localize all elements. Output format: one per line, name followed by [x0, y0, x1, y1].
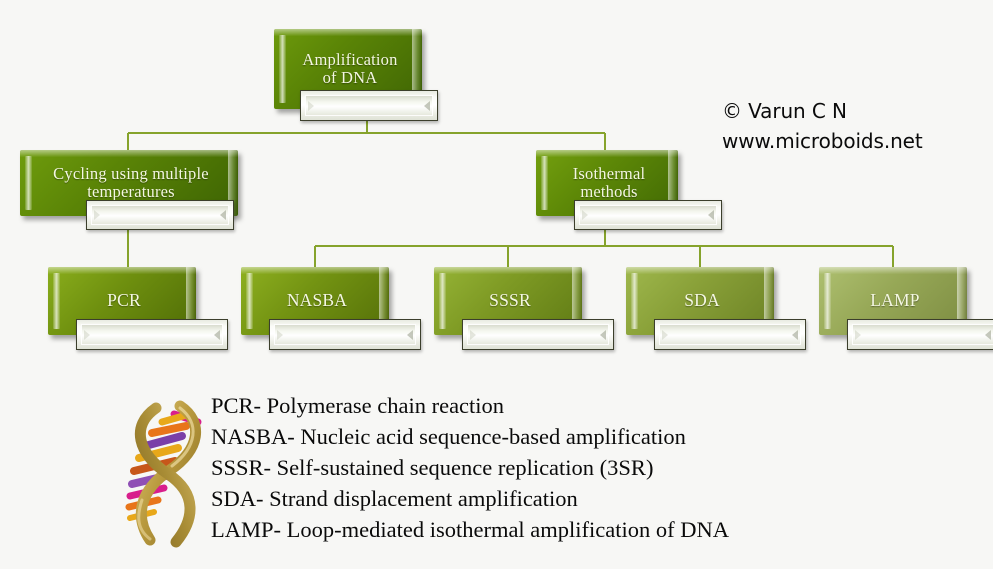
- node-label: LAMP: [870, 291, 919, 311]
- node-isothermal-methods[interactable]: Isothermal methods: [536, 150, 678, 216]
- node-nasba[interactable]: NASBA: [241, 267, 389, 335]
- node-label: Isothermal methods: [556, 165, 662, 202]
- node-label: PCR: [107, 291, 141, 311]
- node-label: Amplification of DNA: [294, 51, 406, 88]
- website-line: www.microboids.net: [722, 126, 923, 156]
- attribution: © Varun C N www.microboids.net: [722, 96, 923, 157]
- dna-double-helix-icon: [112, 392, 216, 552]
- node-plate: [654, 319, 806, 350]
- node-label: SDA: [684, 291, 720, 311]
- diagram-canvas: Amplification of DNA Cycling using multi…: [0, 0, 993, 569]
- node-label: SSSR: [489, 291, 531, 311]
- node-plate: [847, 319, 993, 350]
- node-amplification-of-dna[interactable]: Amplification of DNA: [274, 29, 422, 109]
- node-plate: [76, 319, 228, 350]
- node-label: NASBA: [287, 291, 347, 311]
- node-sda[interactable]: SDA: [626, 267, 774, 335]
- node-plate: [300, 90, 438, 121]
- legend-item: NASBA- Nucleic acid sequence-based ampli…: [211, 421, 729, 452]
- node-label: Cycling using multiple temperatures: [40, 165, 222, 202]
- node-plate: [86, 200, 234, 230]
- node-plate: [574, 200, 722, 230]
- node-pcr[interactable]: PCR: [48, 267, 196, 335]
- node-cycling-using-multiple-temperatures[interactable]: Cycling using multiple temperatures: [20, 150, 238, 216]
- node-plate: [462, 319, 614, 350]
- legend-item: LAMP- Loop-mediated isothermal amplifica…: [211, 514, 729, 545]
- node-plate: [269, 319, 421, 350]
- legend-item: SSSR- Self-sustained sequence replicatio…: [211, 452, 729, 483]
- legend-item: SDA- Strand displacement amplification: [211, 483, 729, 514]
- node-lamp[interactable]: LAMP: [819, 267, 967, 335]
- abbreviation-legend: PCR- Polymerase chain reaction NASBA- Nu…: [211, 390, 729, 545]
- node-sssr[interactable]: SSSR: [434, 267, 582, 335]
- copyright-line: © Varun C N: [722, 96, 923, 126]
- legend-item: PCR- Polymerase chain reaction: [211, 390, 729, 421]
